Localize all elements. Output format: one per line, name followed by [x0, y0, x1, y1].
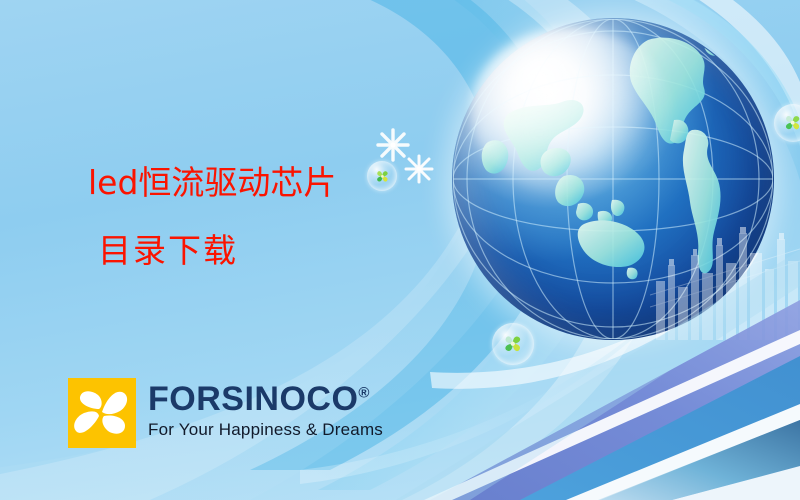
banner-image: led恒流驱动芯片 目录下载 FORSINOCO® Fo: [0, 0, 800, 500]
page-title-line2: 目录下载: [98, 234, 238, 267]
logo-tagline: For Your Happiness & Dreams: [148, 420, 383, 440]
logo-wordmark-text: FORSINOCO: [148, 380, 358, 418]
logo-mark: [68, 378, 136, 448]
logo-wordmark: FORSINOCO®: [148, 382, 383, 416]
four-petal-flower-icon: [68, 378, 136, 448]
page-title-line1: led恒流驱动芯片: [88, 166, 336, 199]
registered-trademark-icon: ®: [358, 385, 370, 402]
logo[interactable]: FORSINOCO® For Your Happiness & Dreams: [68, 378, 383, 448]
